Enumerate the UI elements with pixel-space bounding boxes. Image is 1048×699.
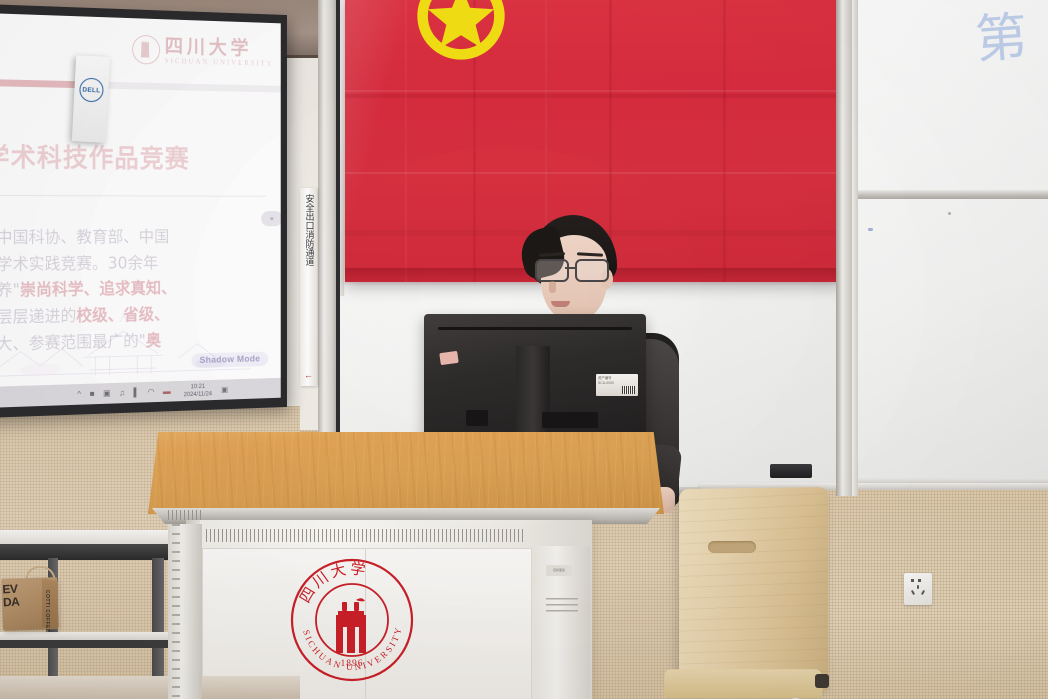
barcode-icon <box>622 386 635 394</box>
monitor-sticker <box>439 351 458 365</box>
chair-handle-slot <box>708 541 756 553</box>
dell-branded-card: DELL <box>72 55 110 143</box>
floor-strip <box>0 676 300 699</box>
slide-highlight: 崇尚科学、追求真知、 <box>20 279 176 300</box>
outlet-top-holes <box>911 579 925 582</box>
emergency-exit-banner: 安全出口 消防通道 ← <box>300 188 317 386</box>
glasses-lens-right <box>575 259 609 282</box>
podium-vent <box>206 529 526 542</box>
slide-title: 学术科技作品竞赛 <box>0 137 190 175</box>
whiteboard-written-character: 第 <box>972 0 1029 73</box>
monitor-icon[interactable]: ▣ <box>103 389 111 398</box>
taskbar-date: 2024/11/24 <box>184 390 212 398</box>
banner-text: 安全出口 <box>303 194 313 230</box>
right-pillar <box>836 0 852 496</box>
taskbar-clock[interactable]: 10:21 2024/11/24 <box>184 383 212 398</box>
projector-screen: 四川大学 SICHUAN UNIVERSITY 学术科技作品竞赛 、中国科协、教… <box>0 4 287 418</box>
side-table-rim <box>0 544 176 560</box>
left-pillar <box>318 0 338 496</box>
left-pillar-edge <box>336 0 340 496</box>
presentation-slide: 四川大学 SICHUAN UNIVERSITY 学术科技作品竞赛 、中国科协、教… <box>0 13 281 408</box>
whiteboard-speck <box>948 212 951 215</box>
whiteboard-right <box>858 0 1048 480</box>
chevron-up-icon[interactable]: ^ <box>77 390 81 398</box>
usb-icon[interactable]: ▌ <box>134 388 140 396</box>
windows-taskbar[interactable]: ^ ■ ▣ ♫ ▌ ◠ ▬ 10:21 2024/11/24 ▣ <box>0 378 281 408</box>
star-in-circle-emblem <box>413 0 509 64</box>
scu-seal-icon <box>132 35 160 65</box>
notification-icon[interactable]: ▣ <box>221 385 228 394</box>
monitor-vent-groove <box>438 327 632 330</box>
classroom-chair-seat[interactable] <box>663 669 823 698</box>
podium-wooden-top <box>148 432 664 514</box>
sichuan-university-seal: 四川大学 SICHUAN UNIVERSITY 1896 <box>288 556 416 684</box>
seal-year: 1896 <box>341 659 364 669</box>
shadow-mode-watermark: Shadow Mode <box>191 352 268 368</box>
glasses-lens-left <box>535 259 569 282</box>
network-icon[interactable]: ◠ <box>148 388 155 396</box>
volume-icon[interactable]: ♫ <box>119 389 125 397</box>
chair-wood-grain <box>679 487 828 691</box>
monitor-asset-label: 资产编号 SCU-0000 <box>596 374 638 396</box>
collapse-panel-button[interactable]: « <box>261 211 281 226</box>
presenter-nose <box>549 281 556 293</box>
slide-pavilion-watermark <box>0 305 251 383</box>
right-pillar-edge <box>852 0 858 496</box>
whiteboard-eraser <box>770 464 812 478</box>
wall-power-outlet[interactable] <box>904 573 932 605</box>
presenter-mouth <box>551 301 570 307</box>
banner-arrow-icon: ← <box>304 370 313 380</box>
whiteboard-marker-mark <box>868 228 873 231</box>
cabinet-top-vent <box>168 510 202 520</box>
scu-logo-en: SICHUAN UNIVERSITY <box>165 57 274 68</box>
slide-body-line: 外学术实践竞赛。30余年 <box>0 250 277 279</box>
projector-screen-display[interactable]: 四川大学 SICHUAN UNIVERSITY 学术科技作品竞赛 、中国科协、教… <box>0 13 281 408</box>
app-red-icon[interactable]: ▬ <box>163 387 171 395</box>
slide-header: 四川大学 SICHUAN UNIVERSITY <box>0 13 281 84</box>
glasses-bridge <box>565 267 575 269</box>
presenter-glasses <box>535 259 611 279</box>
chair-bolt <box>815 674 829 688</box>
dell-logo: DELL <box>79 77 104 102</box>
slide-body-line: 、中国科协、教育部、中国 <box>0 224 277 251</box>
photo-scene: 第 安全出口 消防通道 <box>0 0 1048 699</box>
cabinet-slot-rail <box>172 524 180 699</box>
whiteboard-right-rail <box>858 190 1048 199</box>
taskbar-tray-icons: ^ ■ ▣ ♫ ▌ ◠ ▬ <box>77 387 170 398</box>
podium-side-label: 控制面板 <box>546 565 572 576</box>
monitor-port-right <box>542 412 598 428</box>
battery-icon[interactable]: ■ <box>90 390 95 398</box>
monitor-port-left <box>466 410 488 426</box>
outlet-bottom-holes <box>912 590 924 598</box>
paper-bag-side-text: COTTI COFFEE <box>44 590 50 633</box>
slide-divider <box>0 195 267 197</box>
sichuan-university-logo: 四川大学 SICHUAN UNIVERSITY <box>132 35 274 68</box>
banner-highlight-text: 消防通道 <box>303 230 313 266</box>
side-table-shelf-edge <box>0 640 172 648</box>
podium-side-vent <box>546 598 578 616</box>
dell-monitor[interactable]: 资产编号 SCU-0000 <box>424 314 646 442</box>
scu-logo-cn: 四川大学 <box>165 36 274 58</box>
